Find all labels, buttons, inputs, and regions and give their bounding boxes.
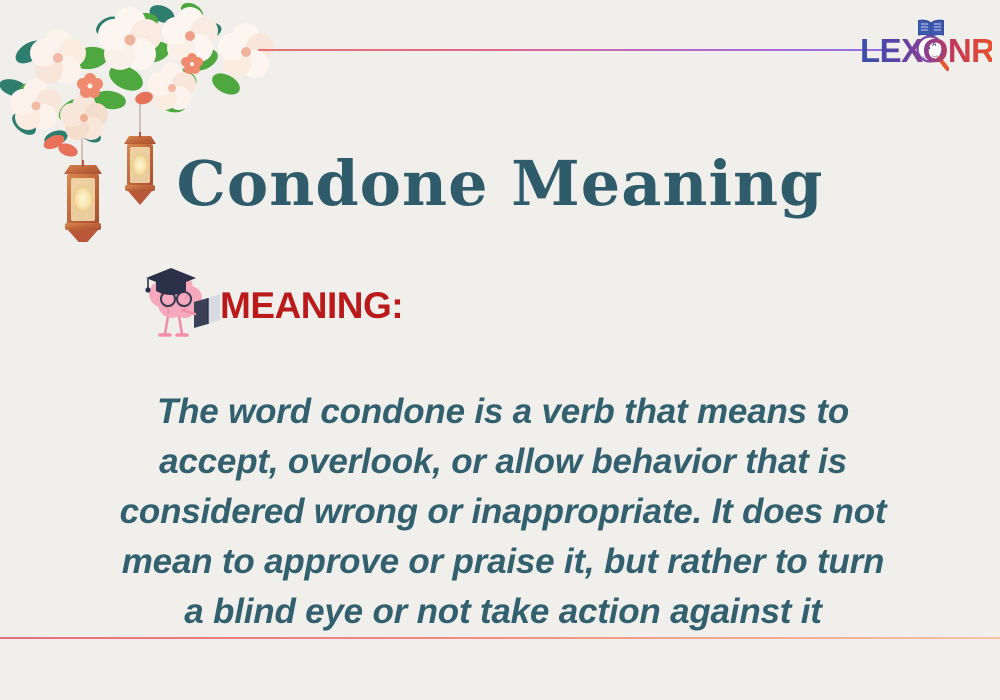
brand-name: LEXONR: [860, 34, 992, 68]
word-meaning-card: A A ض ب LEXONR Condone Meaning: [0, 0, 1000, 700]
meaning-definition-text: The word condone is a verb that means to…: [118, 387, 888, 637]
brand-logo[interactable]: A A ض ب LEXONR: [860, 18, 992, 72]
meaning-heading-row: MEANING:: [138, 258, 403, 344]
flowers: [10, 7, 274, 140]
brain-graduate-icon: [138, 258, 224, 344]
page-title: Condone Meaning: [0, 146, 1000, 222]
foliage-mid: [18, 0, 243, 126]
bottom-divider-rule: [0, 637, 1000, 639]
meaning-label: MEANING:: [220, 284, 403, 344]
foliage-back: [0, 2, 251, 149]
top-divider-rule: [258, 49, 898, 51]
